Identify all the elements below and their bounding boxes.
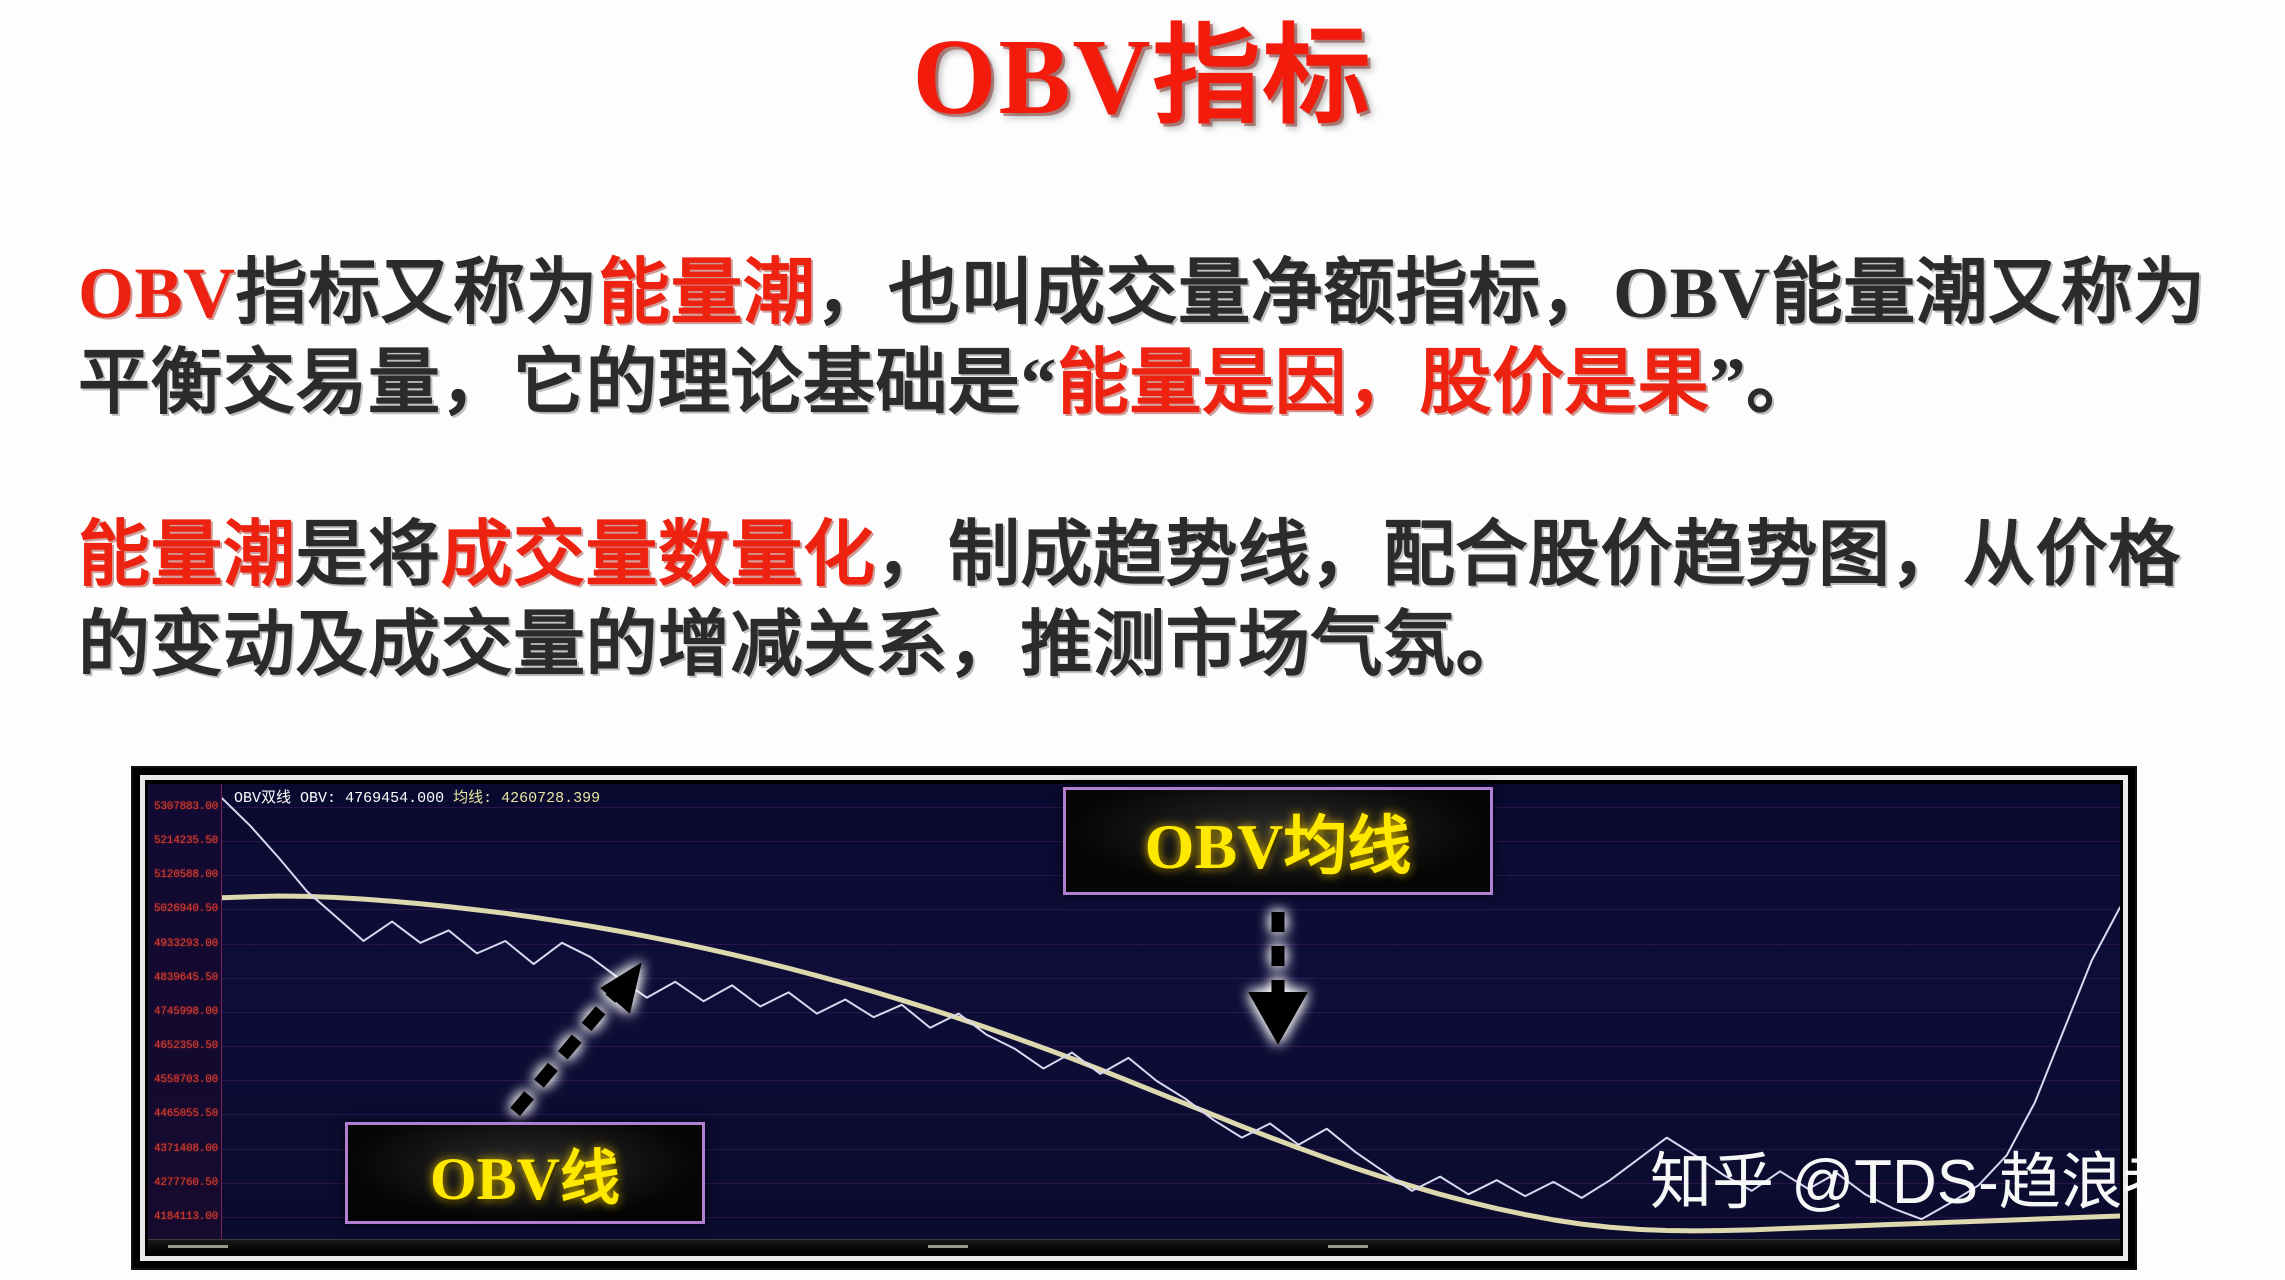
para-2-run-1: 是将 (296, 515, 441, 595)
para-2-run-0: 能量潮 (78, 515, 296, 595)
y-axis-label: 4277760.50 (154, 1178, 218, 1189)
para-1-run-6: ” (1710, 343, 1747, 423)
y-axis-label: 4558703.00 (154, 1075, 218, 1086)
chart-y-axis: 5307883.005214235.505120588.005026940.50… (148, 784, 222, 1252)
body-text: OBV指标又称为能量潮，也叫成交量净额指标，OBV能量潮又称为平衡交易量，它的理… (78, 248, 2208, 690)
watermark: 知乎 @TDS-趋浪者 (1650, 1148, 2185, 1218)
paragraph-1: OBV指标又称为能量潮，也叫成交量净额指标，OBV能量潮又称为平衡交易量，它的理… (78, 248, 2208, 428)
y-axis-label: 4839645.50 (154, 973, 218, 984)
chart-indicator-name: OBV双线 (234, 790, 291, 807)
y-axis-label: 4652350.50 (154, 1041, 218, 1052)
callout-obv-moving-average[interactable]: OBV均线 (1063, 787, 1493, 895)
y-axis-label: 5026940.50 (154, 904, 218, 915)
chart-obv-label: OBV: (300, 790, 336, 807)
chart-ma-label: 均线: (453, 790, 492, 807)
chart-header-readout: OBV双线 OBV: 4769454.000 均线: 4260728.399 (234, 790, 600, 807)
para-1-run-5: 能量是因，股价是果 (1057, 343, 1710, 423)
callout-obv-line-label: OBV线 (430, 1130, 620, 1217)
y-axis-label: 5307883.00 (154, 802, 218, 813)
y-axis-label: 4933293.00 (154, 939, 218, 950)
y-axis-label: 4465055.50 (154, 1109, 218, 1120)
y-axis-label: 4184113.00 (154, 1212, 218, 1223)
callout-obv-line[interactable]: OBV线 (345, 1122, 705, 1224)
y-axis-label: 5120588.00 (154, 870, 218, 881)
slide-root: OBV指标 OBV指标又称为能量潮，也叫成交量净额指标，OBV能量潮又称为平衡交… (0, 0, 2285, 1280)
para-2-run-2: 成交量数量化 (441, 515, 876, 595)
y-axis-label: 4745998.00 (154, 1007, 218, 1018)
chart-ma-value: 4260728.399 (501, 790, 600, 807)
para-1-run-7: 。 (1746, 343, 1819, 423)
page-title: OBV指标 (0, 14, 2285, 142)
para-1-run-1: 指标又称为 (236, 253, 599, 333)
y-axis-label: 5214235.50 (154, 836, 218, 847)
paragraph-2: 能量潮是将成交量数量化，制成趋势线，配合股价趋势图，从价格的变动及成交量的增减关… (78, 510, 2208, 690)
para-1-run-2: 能量潮 (598, 253, 816, 333)
para-1-run-0: OBV (78, 253, 236, 333)
para-1-run-4: “ (1021, 343, 1058, 423)
chart-bottom-axis (148, 1239, 2120, 1252)
y-axis-label: 4371408.00 (154, 1144, 218, 1155)
callout-obv-moving-average-label: OBV均线 (1145, 795, 1412, 887)
chart-obv-value: 4769454.000 (345, 790, 444, 807)
